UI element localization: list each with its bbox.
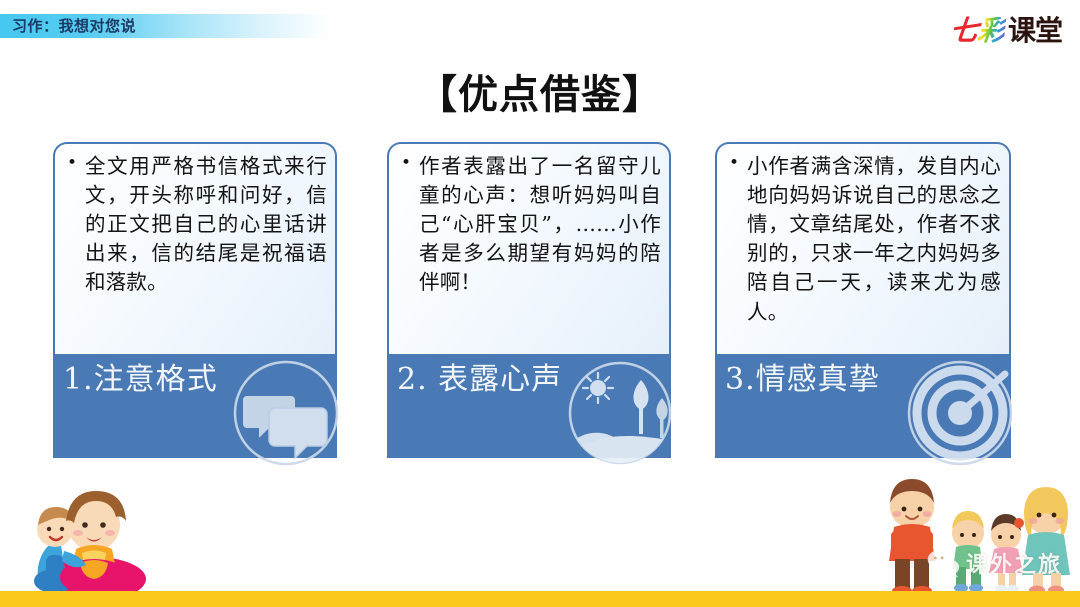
family-of-four-illustration [864, 469, 1074, 599]
card-3-label: 3.情感真挚 [715, 354, 911, 400]
card-1-body: 全文用严格书信格式来行文，开头称呼和问好，信的正文把自己的心里话讲出来，信的结尾… [53, 142, 337, 354]
bottom-accent-bar [0, 591, 1080, 607]
card-3-body: 小作者满含深情，发自内心地向妈妈诉说自己的思念之情，文章结尾处，作者不求别的，只… [715, 142, 1011, 354]
card-2-body: 作者表露出了一名留守儿童的心声：想听妈妈叫自己“心肝宝贝”，……小作者是多么期望… [387, 142, 671, 354]
logo-char-cai: 彩 [976, 17, 1006, 45]
watermark-text: 课外之旅 [966, 547, 1062, 579]
slide-root: 习作：我想对您说 七 彩 课堂 【优点借鉴】 全文用严格书信格式来行文，开头称呼… [0, 0, 1080, 607]
card-3: 小作者满含深情，发自内心地向妈妈诉说自己的思念之情，文章结尾处，作者不求别的，只… [715, 142, 1011, 458]
card-2-label: 2. 表露心声 [387, 354, 583, 400]
logo-char-ketang: 课堂 [1008, 17, 1062, 45]
card-2: 作者表露出了一名留守儿童的心声：想听妈妈叫自己“心肝宝贝”，……小作者是多么期望… [387, 142, 671, 458]
card-1-text: 全文用严格书信格式来行文，开头称呼和问好，信的正文把自己的心里话讲出来，信的结尾… [65, 152, 327, 298]
wechat-icon [926, 548, 960, 578]
mother-and-child-illustration [2, 477, 162, 597]
card-2-footer: 2. 表露心声 [387, 354, 671, 458]
card-1-footer: 1.注意格式 [53, 354, 337, 458]
card-2-text: 作者表露出了一名留守儿童的心声：想听妈妈叫自己“心肝宝贝”，……小作者是多么期望… [399, 152, 661, 298]
wechat-watermark: 课外之旅 [926, 547, 1062, 579]
brand-logo: 七 彩 课堂 [950, 14, 1062, 48]
page-title: 【优点借鉴】 [0, 62, 1080, 120]
logo-char-qi: 七 [948, 17, 978, 45]
card-3-text: 小作者满含深情，发自内心地向妈妈诉说自己的思念之情，文章结尾处，作者不求别的，只… [727, 152, 1001, 327]
lesson-title: 习作：我想对您说 [12, 14, 136, 38]
card-1-label: 1.注意格式 [53, 354, 249, 400]
card-3-footer: 3.情感真挚 [715, 354, 1011, 458]
card-1: 全文用严格书信格式来行文，开头称呼和问好，信的正文把自己的心里话讲出来，信的结尾… [53, 142, 337, 458]
cards-container: 全文用严格书信格式来行文，开头称呼和问好，信的正文把自己的心里话讲出来，信的结尾… [0, 142, 1080, 462]
target-bullseye-icon [901, 354, 1019, 472]
